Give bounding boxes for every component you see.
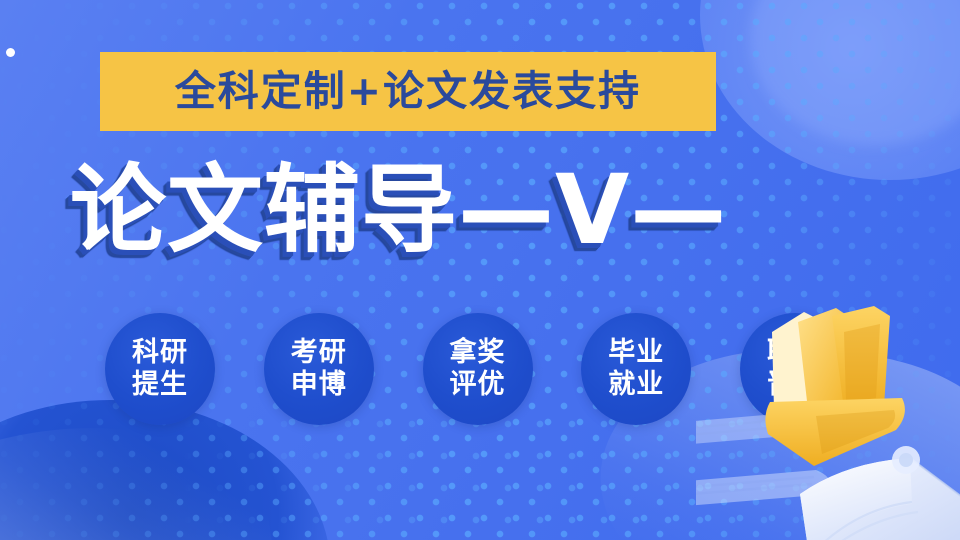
feature-circle-3-line2: 就业 [608, 371, 664, 399]
promo-poster: 全科定制+论文发表支持 论文辅导—V— 科研 提生 考研 申博 拿奖 评优 毕业… [0, 0, 960, 540]
feature-circle-3-line1: 毕业 [608, 339, 664, 367]
feature-circle-0-line1: 科研 [132, 339, 188, 367]
feature-circle-1-line2: 申博 [291, 371, 347, 399]
subtitle-banner-text: 全科定制+论文发表支持 [175, 71, 641, 112]
feature-circle-0[interactable]: 科研 提生 [105, 313, 215, 425]
page-title: 论文辅导—V— [70, 150, 910, 270]
feature-circle-0-line2: 提生 [132, 371, 188, 399]
page-title-text: 论文辅导—V— [70, 162, 727, 258]
feature-circle-2-line2: 评优 [450, 371, 506, 399]
feature-circle-4-line1: 职称 [767, 339, 823, 367]
feature-circle-4[interactable]: 职称 晋升 [740, 313, 850, 425]
feature-circle-2[interactable]: 拿奖 评优 [423, 313, 533, 425]
feature-circle-1-line1: 考研 [291, 339, 347, 367]
feature-circle-3[interactable]: 毕业 就业 [581, 313, 691, 425]
subtitle-banner: 全科定制+论文发表支持 [100, 52, 716, 131]
feature-circle-1[interactable]: 考研 申博 [264, 313, 374, 425]
feature-circle-2-line1: 拿奖 [450, 339, 506, 367]
feature-circle-4-line2: 晋升 [767, 371, 823, 399]
feature-circle-list: 科研 提生 考研 申博 拿奖 评优 毕业 就业 职称 晋升 [105, 313, 850, 425]
white-dot-icon [6, 48, 15, 57]
